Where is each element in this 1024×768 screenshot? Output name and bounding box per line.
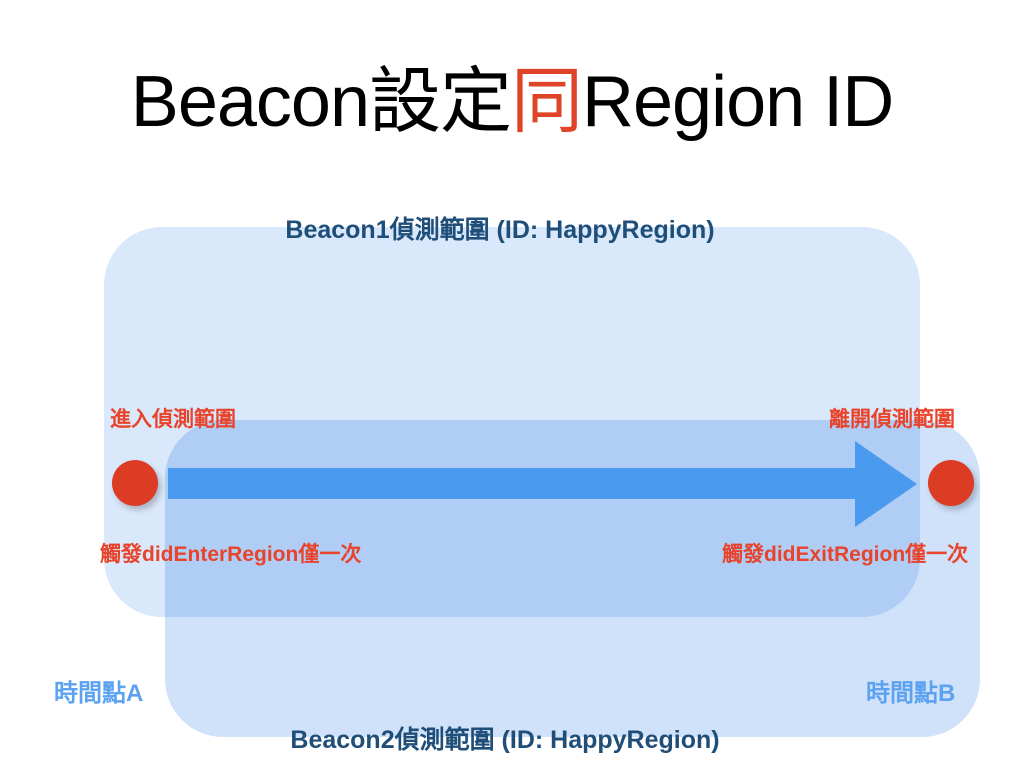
timeline-start-dot (112, 460, 158, 506)
beacon1-region-caption: Beacon1偵測範圍 (ID: HappyRegion) (0, 210, 1000, 246)
beacon2-region-caption: Beacon2偵測範圍 (ID: HappyRegion) (0, 720, 1010, 756)
title-prefix: Beacon設定 (131, 62, 511, 142)
did-exit-region-trigger-label: 觸發didExitRegion僅一次 (722, 538, 968, 568)
page-title: Beacon設定同Region ID (0, 58, 1024, 146)
time-point-a-label: 時間點A (54, 673, 143, 708)
title-highlight-character: 同 (511, 62, 582, 142)
slide-canvas: Beacon設定同Region ID Beacon1偵測範圍 (ID: Happ… (0, 0, 1024, 768)
enter-range-label: 進入偵測範圍 (110, 403, 236, 433)
did-enter-region-trigger-label: 觸發didEnterRegion僅一次 (100, 538, 361, 568)
timeline-end-dot (928, 460, 974, 506)
timeline-arrow-head-icon (855, 441, 917, 527)
title-suffix: Region ID (582, 62, 893, 142)
timeline-arrow-shaft (168, 468, 868, 499)
exit-range-label: 離開偵測範圍 (829, 403, 955, 433)
time-point-b-label: 時間點B (866, 673, 955, 708)
